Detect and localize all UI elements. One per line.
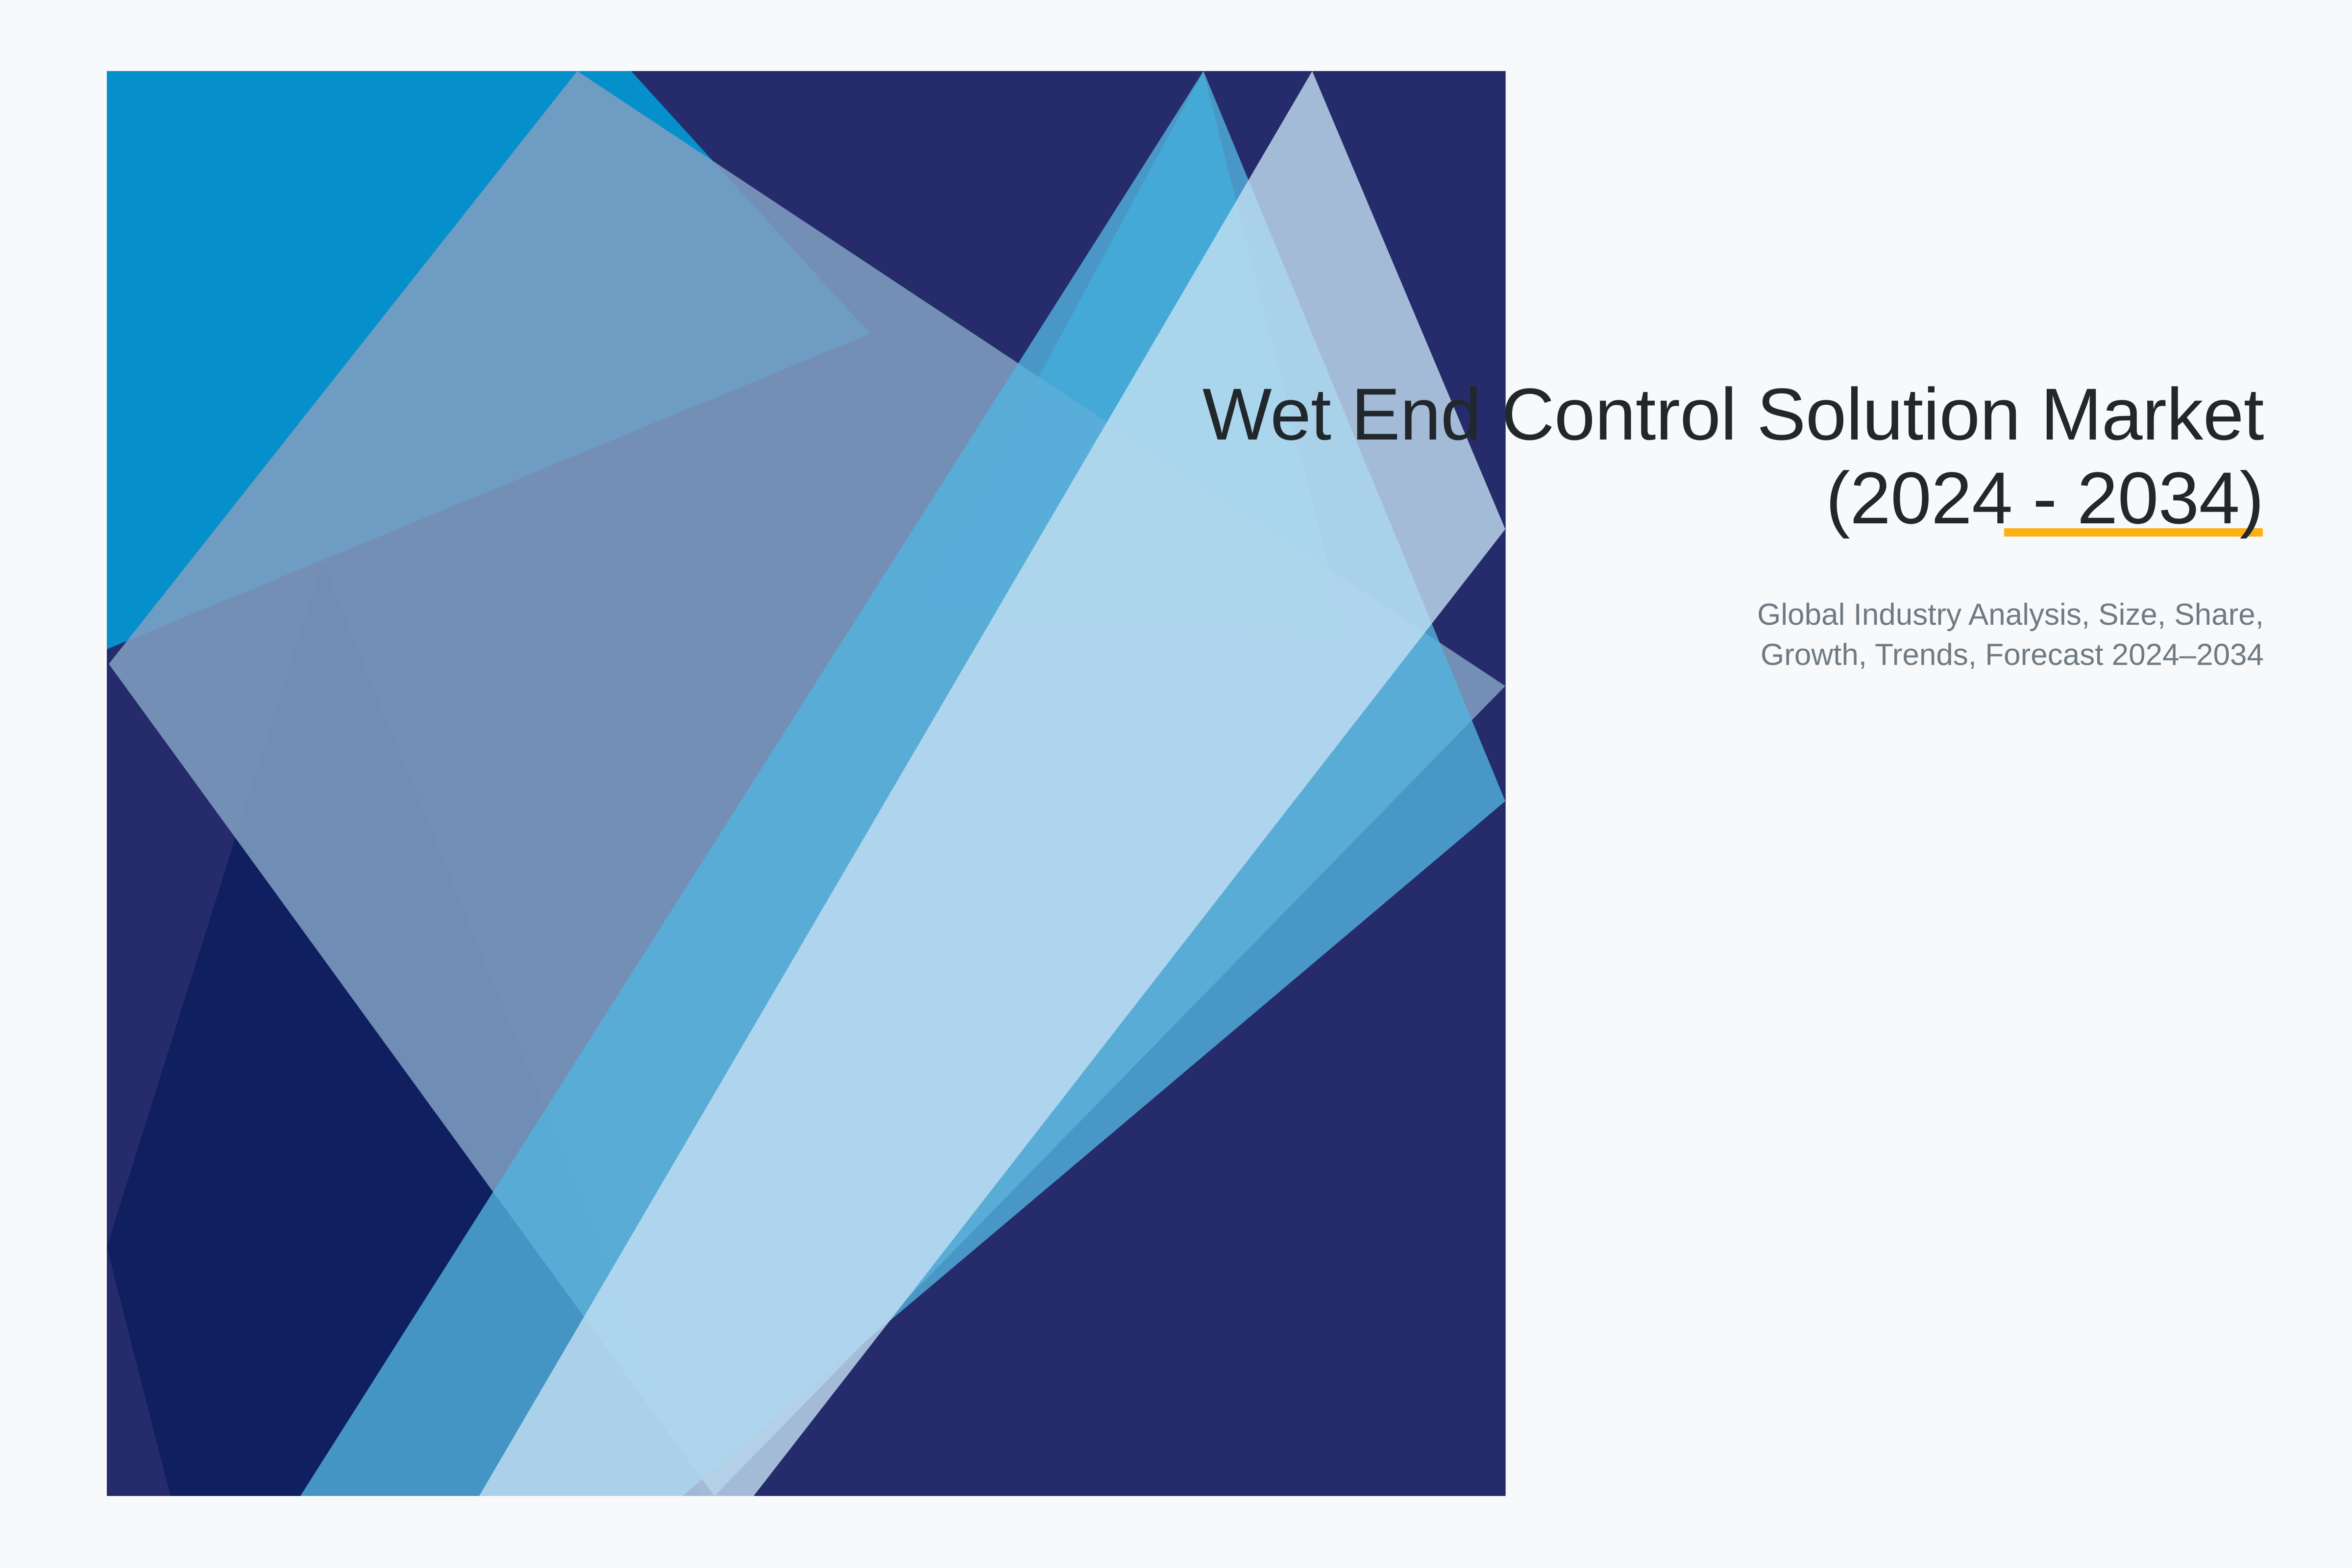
- cover-artwork: [107, 71, 1506, 1496]
- cover-text-block: Wet End Control Solution Market (2024 - …: [990, 372, 2264, 676]
- page-subtitle: Global Industry Analysis, Size, Share, G…: [990, 540, 2264, 676]
- geometric-artwork-svg: [107, 71, 1506, 1496]
- page-title: Wet End Control Solution Market (2024 - …: [990, 372, 2264, 540]
- cover-page: Wet End Control Solution Market (2024 - …: [0, 0, 2352, 1568]
